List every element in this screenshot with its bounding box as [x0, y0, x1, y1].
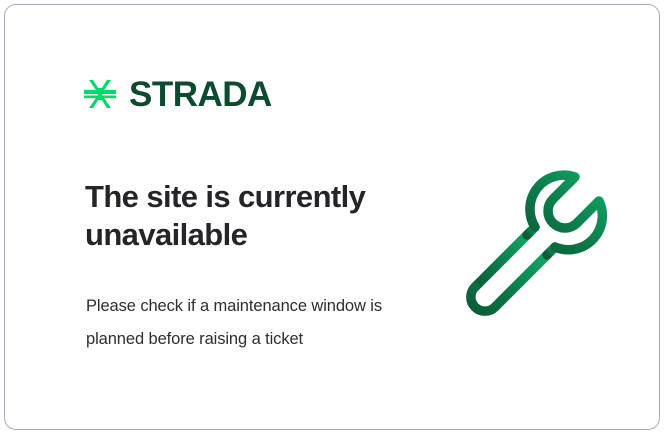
- status-card: STRADA The site is currently unavailable…: [4, 4, 660, 430]
- page-description: Please check if a maintenance window is …: [86, 290, 396, 356]
- strada-asterisk-icon: [81, 75, 119, 113]
- page-title: The site is currently unavailable: [85, 178, 425, 254]
- brand-wordmark: STRADA: [129, 77, 272, 112]
- error-page: STRADA The site is currently unavailable…: [0, 0, 666, 436]
- brand-logo-lockup: STRADA: [81, 75, 272, 113]
- maintenance-illustration: [457, 155, 625, 323]
- wrench-icon: [457, 155, 625, 323]
